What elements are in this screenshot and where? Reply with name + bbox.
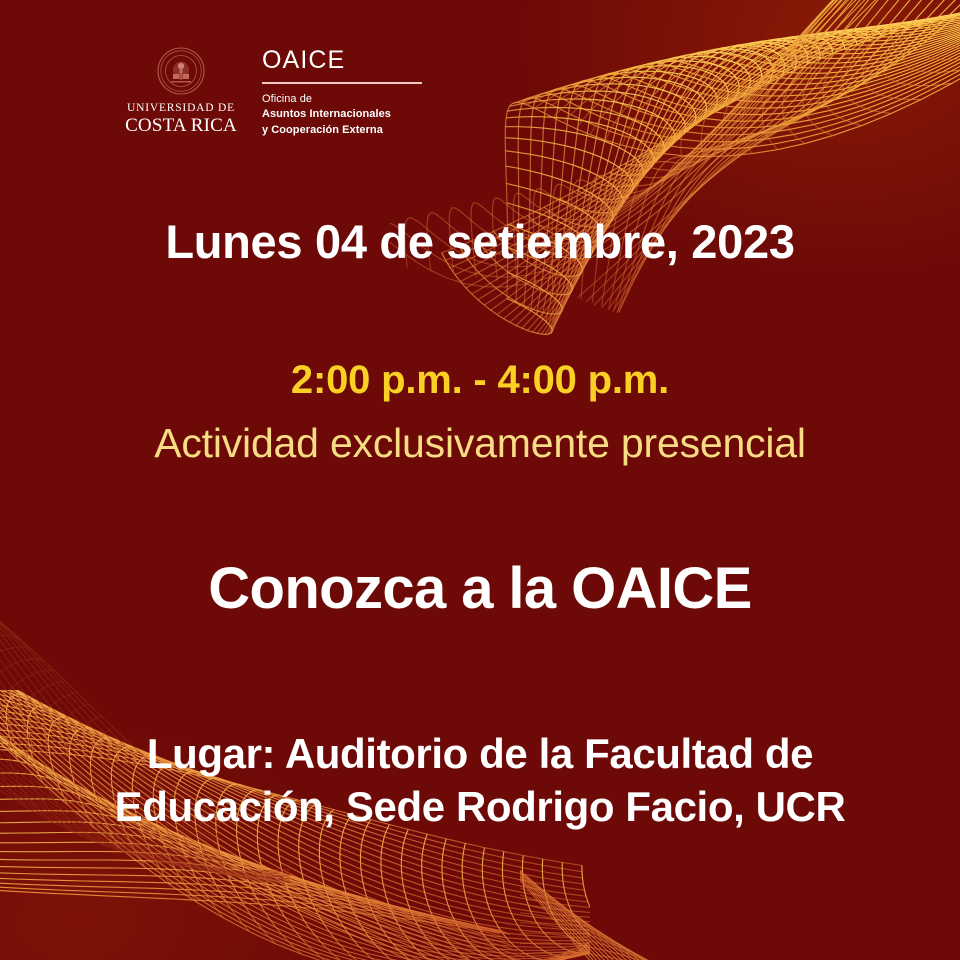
brand-header: UNIVERSIDAD DE COSTA RICA OAICE Oficina …: [122, 44, 422, 138]
oaice-subtitle-line-1: Oficina de: [262, 92, 422, 108]
event-venue-line-2: Educación, Sede Rodrigo Facio, UCR: [48, 781, 912, 834]
event-modality: Actividad exclusivamente presencial: [0, 423, 960, 464]
event-time: 2:00 p.m. - 4:00 p.m.: [0, 360, 960, 400]
oaice-subtitle-line-3: y Cooperación Externa: [262, 123, 422, 139]
oaice-acronym: OAICE: [262, 48, 422, 73]
oaice-subtitle-line-2: Asuntos Internacionales: [262, 107, 422, 123]
wave-mesh-icon: [390, 0, 960, 350]
ucr-seal-icon: [156, 46, 206, 96]
oaice-logo: OAICE Oficina de Asuntos Internacionales…: [262, 44, 422, 138]
ucr-logo: UNIVERSIDAD DE COSTA RICA: [122, 44, 240, 135]
event-title: Conozca a la OAICE: [0, 560, 960, 618]
event-poster: UNIVERSIDAD DE COSTA RICA OAICE Oficina …: [0, 0, 960, 960]
event-venue: Lugar: Auditorio de la Facultad de Educa…: [48, 728, 912, 834]
ucr-wordmark: UNIVERSIDAD DE COSTA RICA: [125, 103, 237, 135]
ucr-wordmark-line-2: COSTA RICA: [125, 116, 237, 135]
oaice-divider: [262, 82, 422, 84]
event-date: Lunes 04 de setiembre, 2023: [0, 218, 960, 265]
ucr-wordmark-line-1: UNIVERSIDAD DE: [125, 103, 237, 115]
event-venue-line-1: Lugar: Auditorio de la Facultad de: [48, 728, 912, 781]
